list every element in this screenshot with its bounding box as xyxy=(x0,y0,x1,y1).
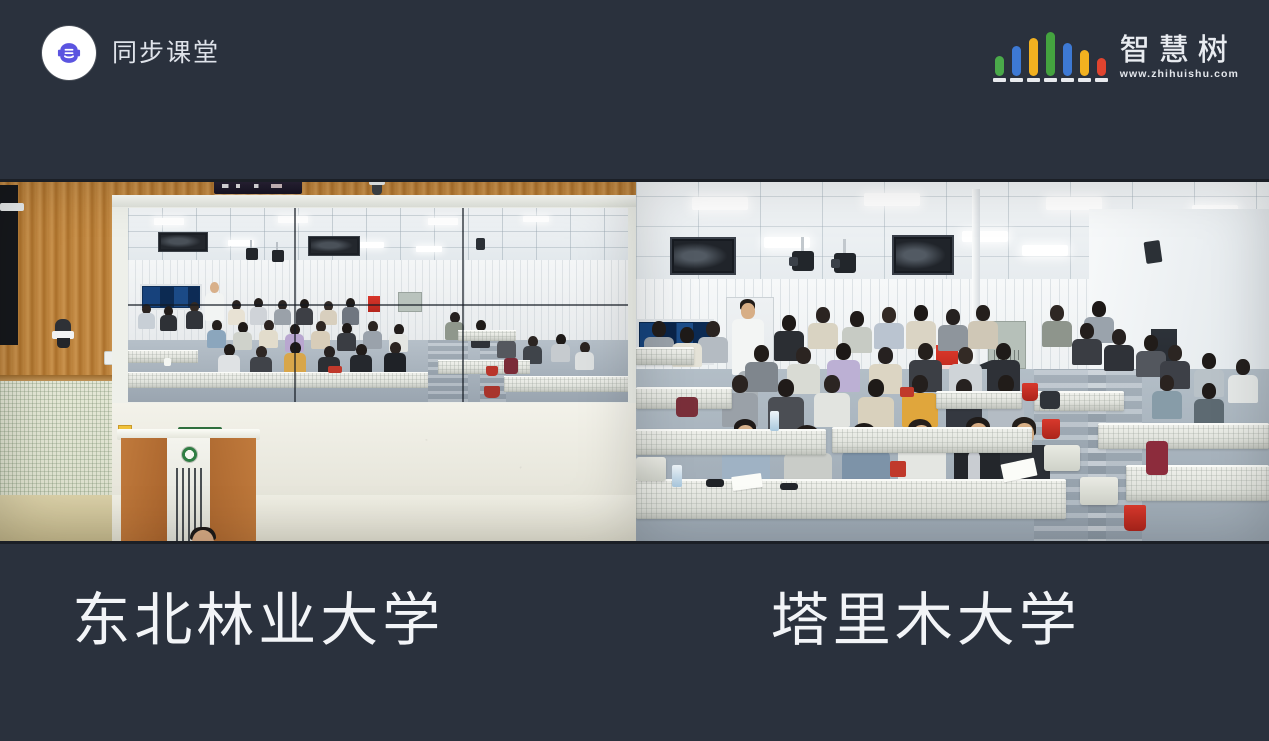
logo-bar xyxy=(1010,32,1023,82)
dual-video-stage xyxy=(0,179,1269,544)
brand-block: 同步课堂 xyxy=(42,26,220,80)
wall-tv xyxy=(670,237,736,275)
remote-wall-tv xyxy=(308,236,360,256)
panel-bottom-letterbox xyxy=(636,541,1269,544)
zhihuishu-logo: 智慧树 www.zhihuishu.com xyxy=(993,26,1239,82)
university-emblem-icon xyxy=(181,446,198,463)
wall-speaker-icon xyxy=(1144,240,1163,264)
remote-projector xyxy=(272,250,284,262)
logo-bar xyxy=(993,32,1006,82)
remote-speaker xyxy=(476,238,485,250)
left-room-scene xyxy=(0,179,636,544)
wall-bracket xyxy=(0,203,24,211)
caption-left-university: 东北林业大学 xyxy=(0,556,635,686)
video-wall-top-trim xyxy=(112,195,636,207)
zhihuishu-bars-icon xyxy=(993,32,1108,82)
caption-row: 东北林业大学 塔里木大学 xyxy=(0,556,1269,686)
graduation-cap-icon xyxy=(42,26,96,80)
wall-tv xyxy=(892,235,954,275)
video-panel-right[interactable] xyxy=(636,179,1269,544)
app-header: 同步课堂 智慧树 www.zhihuishu.com xyxy=(0,0,1269,108)
panel-top-letterbox xyxy=(0,179,636,182)
page-title: 同步课堂 xyxy=(112,41,220,66)
logo-bar xyxy=(1027,32,1040,82)
panel-bottom-letterbox xyxy=(0,541,636,544)
podium xyxy=(121,438,256,544)
remote-wall-box xyxy=(398,292,422,312)
projector-icon xyxy=(792,251,814,271)
zhihuishu-url: www.zhihuishu.com xyxy=(1120,68,1239,81)
caption-right-university: 塔里木大学 xyxy=(635,556,1269,686)
app-root: 同步课堂 智慧树 www.zhihuishu.com xyxy=(0,0,1269,741)
zhihuishu-name: 智慧树 xyxy=(1120,35,1237,67)
panel-top-letterbox xyxy=(636,179,1269,182)
logo-bar xyxy=(1061,32,1074,82)
video-wall-screen xyxy=(128,208,628,402)
ceiling-camera-icon xyxy=(372,183,382,195)
remote-wall-tv xyxy=(158,232,208,252)
logo-bar xyxy=(1044,32,1057,82)
logo-bar xyxy=(1078,32,1091,82)
right-room-scene xyxy=(636,179,1269,544)
projector-icon xyxy=(834,253,856,273)
remote-projector xyxy=(246,248,258,260)
led-ribbon-display xyxy=(214,180,302,194)
logo-bar xyxy=(1095,32,1108,82)
remote-classroom-feed xyxy=(128,208,628,402)
zhihuishu-wordmark: 智慧树 www.zhihuishu.com xyxy=(1120,35,1239,82)
video-panel-left[interactable] xyxy=(0,179,636,544)
ptz-camera-icon xyxy=(52,319,74,349)
